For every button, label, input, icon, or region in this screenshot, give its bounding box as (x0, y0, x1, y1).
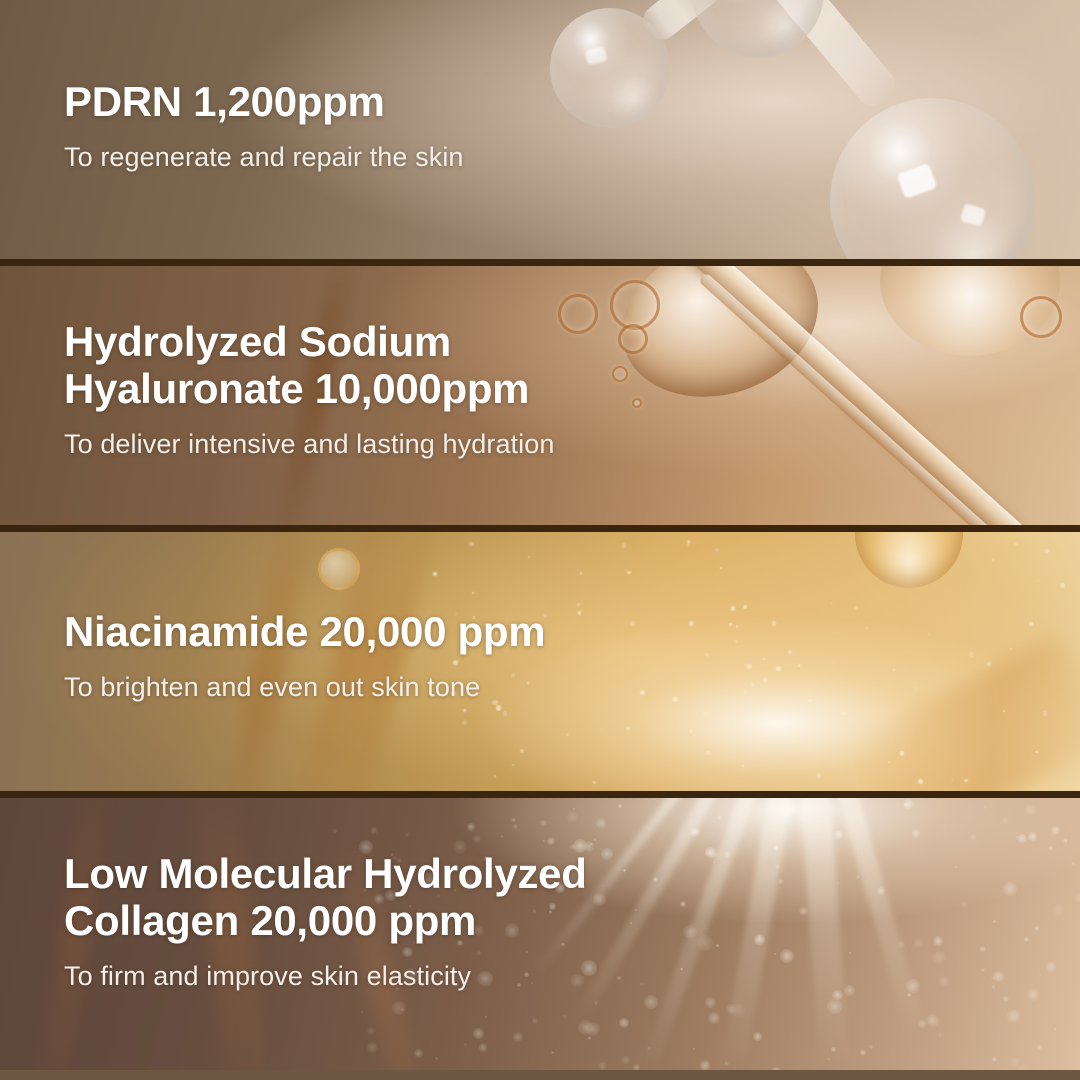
bokeh-particle-icon (367, 1042, 377, 1052)
molecule-sphere-icon (550, 8, 670, 128)
bokeh-particle-icon (547, 837, 555, 845)
bokeh-particle-icon (955, 866, 957, 868)
sparkle-speck-icon (842, 712, 845, 715)
bokeh-particle-icon (435, 1057, 438, 1060)
sparkle-speck-icon (788, 650, 792, 654)
sparkle-speck-icon (729, 623, 731, 625)
bokeh-particle-icon (716, 944, 719, 947)
bokeh-particle-icon (513, 824, 519, 830)
ingredient-benefit: To regenerate and repair the skin (64, 142, 464, 173)
sparkle-speck-icon (703, 711, 708, 716)
bokeh-particle-icon (906, 979, 920, 993)
bokeh-particle-icon (837, 882, 839, 884)
sparkle-speck-icon (462, 720, 467, 725)
bokeh-particle-icon (392, 1001, 406, 1015)
bokeh-particle-icon (1003, 996, 1009, 1002)
bokeh-particle-icon (590, 843, 592, 845)
ingredient-benefit: To firm and improve skin elasticity (64, 961, 587, 992)
bokeh-particle-icon (578, 1020, 593, 1035)
bokeh-particle-icon (680, 901, 686, 907)
bokeh-particle-icon (827, 1058, 830, 1061)
sparkle-speck-icon (748, 721, 750, 723)
bokeh-particle-icon (567, 812, 577, 822)
bokeh-particle-icon (473, 835, 481, 843)
bokeh-particle-icon (860, 1049, 867, 1056)
ingredient-title: Hydrolyzed Sodium Hyaluronate 10,000ppm (64, 318, 555, 413)
bubble-ring-icon (618, 324, 648, 354)
bokeh-particle-icon (983, 805, 988, 810)
bokeh-particle-icon (932, 951, 945, 964)
sparkle-speck-icon (580, 572, 583, 575)
sparkle-speck-icon (1043, 711, 1047, 715)
bokeh-particle-icon (367, 1027, 375, 1035)
bubble-ring-icon (610, 280, 660, 330)
sparkle-speck-icon (627, 571, 630, 574)
bokeh-particle-icon (630, 922, 632, 924)
bubble-ring-icon (632, 398, 642, 408)
sparkle-speck-icon (969, 652, 974, 657)
bokeh-particle-icon (654, 878, 656, 880)
bokeh-particle-icon (473, 1028, 484, 1039)
sparkle-speck-icon (833, 663, 835, 665)
sparkle-speck-icon (761, 713, 763, 715)
bokeh-particle-icon (849, 952, 851, 954)
sparkle-speck-icon (512, 764, 514, 766)
sparkle-speck-icon (626, 727, 630, 731)
sparkle-speck-icon (838, 720, 840, 722)
sparkle-speck-icon (687, 545, 689, 547)
sparkle-speck-icon (798, 664, 801, 667)
oil-droplet-icon (855, 532, 963, 588)
bokeh-particle-icon (635, 909, 637, 911)
bokeh-particle-icon (1017, 834, 1027, 844)
bokeh-particle-icon (1074, 892, 1080, 903)
bokeh-particle-icon (799, 907, 807, 915)
sparkle-speck-icon (689, 621, 694, 626)
bokeh-particle-icon (333, 829, 336, 832)
bokeh-particle-icon (690, 827, 700, 837)
bokeh-particle-icon (897, 941, 905, 949)
sparkle-speck-icon (715, 548, 719, 552)
bokeh-particle-icon (602, 885, 605, 888)
bokeh-particle-icon (869, 1045, 873, 1049)
sparkle-speck-icon (706, 751, 710, 755)
bokeh-particle-icon (513, 1032, 523, 1042)
sparkle-speck-icon (472, 592, 474, 594)
bokeh-particle-icon (479, 1043, 488, 1052)
ingredient-panel-hyaluronate: Hydrolyzed Sodium Hyaluronate 10,000ppm … (0, 266, 1080, 532)
bokeh-particle-icon (903, 799, 913, 809)
bokeh-particle-icon (979, 946, 986, 953)
bokeh-particle-icon (933, 936, 943, 946)
bokeh-particle-icon (832, 990, 842, 1000)
sparkle-speck-icon (763, 658, 765, 660)
ingredient-panel-collagen: Low Molecular Hydrolyzed Collagen 20,000… (0, 798, 1080, 1070)
sparkle-speck-icon (578, 611, 582, 615)
sparkle-speck-icon (1037, 580, 1039, 582)
bokeh-particle-icon (993, 920, 996, 923)
bokeh-particle-icon (532, 1018, 538, 1024)
ingredient-title: Low Molecular Hydrolyzed Collagen 20,000… (64, 850, 587, 945)
sparkle-speck-icon (1015, 543, 1017, 545)
bokeh-particle-icon (1039, 973, 1042, 976)
bokeh-particle-icon (485, 1016, 487, 1018)
sparkle-speck-icon (720, 567, 722, 569)
bokeh-particle-icon (601, 848, 613, 860)
bokeh-particle-icon (981, 968, 985, 972)
bokeh-particle-icon (753, 1032, 762, 1041)
bokeh-particle-icon (780, 949, 793, 962)
bokeh-particle-icon (573, 808, 575, 810)
sparkle-speck-icon (952, 779, 954, 781)
panel-text-block: Hydrolyzed Sodium Hyaluronate 10,000ppm … (64, 318, 555, 460)
sparkle-speck-icon (496, 705, 501, 710)
sparkle-speck-icon (776, 666, 781, 671)
bokeh-particle-icon (618, 804, 623, 809)
bokeh-particle-icon (918, 1019, 927, 1028)
bokeh-particle-icon (598, 1062, 607, 1070)
bokeh-particle-icon (543, 840, 545, 842)
bokeh-particle-icon (1063, 838, 1068, 843)
bokeh-particle-icon (1025, 804, 1036, 815)
bokeh-particle-icon (991, 976, 995, 980)
bokeh-particle-icon (621, 1056, 630, 1065)
bokeh-particle-icon (726, 1004, 736, 1014)
bokeh-particle-icon (774, 953, 776, 955)
bokeh-particle-icon (562, 1014, 567, 1019)
ingredient-infographic: PDRN 1,200ppm To regenerate and repair t… (0, 0, 1080, 1080)
bokeh-particle-icon (644, 995, 658, 1009)
bokeh-particle-icon (1027, 988, 1039, 1000)
bokeh-particle-icon (926, 1014, 939, 1027)
bokeh-particle-icon (827, 999, 842, 1014)
sparkle-speck-icon (494, 775, 496, 777)
bokeh-particle-icon (693, 1048, 695, 1050)
sparkle-speck-icon (1045, 549, 1050, 554)
ingredient-panel-pdrn: PDRN 1,200ppm To regenerate and repair t… (0, 0, 1080, 266)
bokeh-particle-icon (1007, 1010, 1020, 1023)
bokeh-particle-icon (938, 1033, 943, 1038)
bokeh-particle-icon (1072, 862, 1075, 865)
bokeh-particle-icon (831, 1047, 836, 1052)
bokeh-particle-icon (705, 997, 716, 1008)
bokeh-particle-icon (778, 879, 783, 884)
sparkle-speck-icon (928, 633, 930, 635)
bokeh-particle-icon (844, 800, 846, 802)
panel-divider (0, 791, 1080, 798)
sparkle-speck-icon (742, 765, 744, 767)
panel-text-block: PDRN 1,200ppm To regenerate and repair t… (64, 78, 464, 173)
bokeh-particle-icon (717, 815, 722, 820)
bokeh-particle-icon (1046, 961, 1056, 971)
sparkle-speck-icon (865, 627, 867, 629)
sparkle-speck-icon (1035, 751, 1038, 754)
bokeh-particle-icon (594, 839, 596, 841)
sparkle-speck-icon (916, 687, 918, 689)
bubble-ring-icon (558, 294, 598, 334)
bokeh-particle-icon (647, 1047, 650, 1050)
bokeh-particle-icon (943, 826, 946, 829)
panel-text-block: Low Molecular Hydrolyzed Collagen 20,000… (64, 850, 587, 992)
ingredient-benefit: To deliver intensive and lasting hydrati… (64, 429, 555, 460)
sparkle-speck-icon (735, 640, 738, 643)
bokeh-particle-icon (617, 976, 621, 980)
sparkle-speck-icon (1029, 622, 1033, 626)
bokeh-particle-icon (914, 938, 924, 948)
bokeh-particle-icon (596, 818, 607, 829)
bokeh-particle-icon (1002, 817, 1009, 824)
panel-divider (0, 525, 1080, 532)
ingredient-panel-niacinamide: Niacinamide 20,000 ppm To brighten and e… (0, 532, 1080, 798)
sparkle-speck-icon (469, 542, 474, 547)
bokeh-particle-icon (771, 1067, 781, 1070)
sparkle-speck-icon (577, 603, 580, 606)
bokeh-particle-icon (594, 1001, 598, 1005)
bokeh-particle-icon (593, 893, 606, 906)
bokeh-particle-icon (828, 802, 843, 817)
bokeh-particle-icon (1051, 834, 1053, 836)
sparkle-speck-icon (893, 669, 895, 671)
bubble-ring-icon (612, 366, 628, 382)
bokeh-particle-icon (464, 1043, 467, 1046)
sparkle-speck-icon (918, 779, 923, 784)
sparkle-speck-icon (503, 711, 508, 716)
sparkle-speck-icon (743, 605, 747, 609)
bokeh-particle-icon (501, 835, 504, 838)
bokeh-particle-icon (540, 820, 547, 827)
bokeh-particle-icon (361, 1011, 363, 1013)
bokeh-particle-icon (754, 934, 765, 945)
bokeh-particle-icon (861, 853, 863, 855)
sparkle-speck-icon (690, 730, 692, 732)
bokeh-particle-icon (623, 869, 626, 872)
bokeh-particle-icon (1024, 937, 1029, 942)
sparkle-speck-icon (816, 773, 821, 778)
bokeh-particle-icon (710, 849, 723, 862)
molecule-sphere-icon (692, 0, 824, 58)
sparkle-speck-icon (528, 556, 530, 558)
bokeh-particle-icon (551, 1051, 554, 1054)
bubble-ring-icon (1020, 296, 1062, 338)
bokeh-particle-icon (588, 1036, 592, 1040)
bokeh-particle-icon (619, 1018, 629, 1028)
bokeh-particle-icon (683, 925, 696, 938)
sparkle-speck-icon (992, 559, 994, 561)
bokeh-particle-icon (700, 1060, 710, 1070)
sparkle-speck-icon (986, 662, 990, 666)
sparkle-speck-icon (630, 621, 635, 626)
bokeh-particle-icon (1037, 1044, 1042, 1049)
sparkle-speck-icon (1010, 648, 1012, 650)
bokeh-particle-icon (939, 975, 949, 985)
ingredient-title: Niacinamide 20,000 ppm (64, 608, 545, 655)
bokeh-particle-icon (467, 823, 475, 831)
bokeh-particle-icon (697, 935, 713, 951)
sparkle-speck-icon (744, 692, 746, 694)
light-ray-icon (800, 798, 849, 1068)
bokeh-particle-icon (857, 876, 860, 879)
bokeh-particle-icon (834, 830, 843, 839)
ingredient-title: PDRN 1,200ppm (64, 78, 464, 125)
sparkle-speck-icon (706, 653, 710, 657)
bokeh-particle-icon (912, 829, 921, 838)
bokeh-particle-icon (370, 827, 378, 835)
bokeh-particle-icon (724, 851, 731, 858)
sparkle-speck-icon (751, 683, 754, 686)
sparkle-speck-icon (900, 751, 905, 756)
ingredient-benefit: To brighten and even out skin tone (64, 672, 545, 703)
sparkle-speck-icon (808, 699, 812, 703)
sparkle-speck-icon (673, 697, 678, 702)
bokeh-particle-icon (1034, 926, 1039, 931)
bokeh-particle-icon (970, 834, 977, 841)
bubble-ring-icon (318, 548, 360, 590)
bokeh-particle-icon (1054, 1028, 1056, 1030)
bokeh-particle-icon (414, 1049, 423, 1058)
panel-text-block: Niacinamide 20,000 ppm To brighten and e… (64, 608, 545, 703)
sparkle-speck-icon (763, 678, 767, 682)
sparkle-speck-icon (433, 572, 437, 576)
sparkle-speck-icon (731, 606, 736, 611)
sparkle-speck-icon (803, 710, 805, 712)
bokeh-particle-icon (511, 818, 516, 823)
sparkle-speck-icon (463, 709, 466, 712)
bokeh-particle-icon (844, 985, 856, 997)
bokeh-particle-icon (405, 832, 410, 837)
sparkle-speck-icon (566, 733, 569, 736)
sparkle-speck-icon (855, 607, 857, 609)
bokeh-particle-icon (1003, 882, 1017, 896)
sparkle-speck-icon (831, 602, 833, 604)
sparkle-speck-icon (622, 543, 626, 547)
panel-divider (0, 259, 1080, 266)
sparkle-speck-icon (736, 625, 738, 627)
sparkle-speck-icon (520, 749, 524, 753)
sparkle-speck-icon (772, 621, 776, 625)
bokeh-particle-icon (1048, 846, 1053, 851)
sparkle-speck-icon (640, 690, 645, 695)
bokeh-particle-icon (992, 985, 996, 989)
bokeh-particle-icon (1053, 904, 1066, 917)
bokeh-particle-icon (1028, 832, 1037, 841)
sparkle-speck-icon (687, 540, 691, 544)
sparkle-speck-icon (746, 664, 751, 669)
bokeh-particle-icon (708, 1012, 719, 1023)
bokeh-particle-icon (633, 1064, 640, 1070)
bokeh-particle-icon (961, 901, 967, 907)
bokeh-particle-icon (640, 983, 643, 986)
sparkle-speck-icon (1060, 583, 1065, 588)
bokeh-particle-icon (992, 1057, 997, 1062)
sparkle-speck-icon (593, 781, 596, 784)
